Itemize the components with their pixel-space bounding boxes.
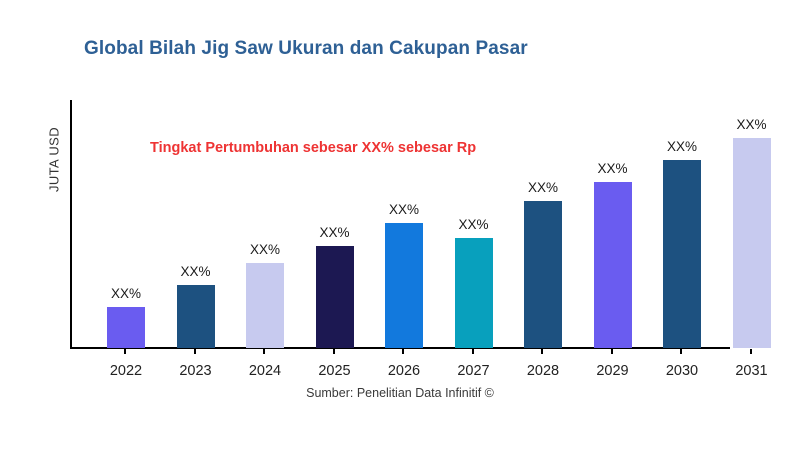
x-axis-tick (402, 349, 404, 354)
bar-value-label: XX% (299, 225, 371, 240)
x-axis-tick-label: 2031 (716, 363, 788, 379)
x-axis-tick-label: 2024 (229, 363, 301, 379)
x-axis-tick-label: 2026 (368, 363, 440, 379)
bar-rect[interactable] (524, 201, 562, 348)
bar-value-label: XX% (507, 180, 579, 195)
bar-value-label: XX% (368, 202, 440, 217)
bar-rect[interactable] (177, 285, 215, 348)
bar-value-label: XX% (160, 264, 232, 279)
bar-series: XX%2022XX%2023XX%2024XX%2025XX%2026XX%20… (0, 0, 800, 450)
bar-value-label: XX% (577, 161, 649, 176)
bar-value-label: XX% (646, 139, 718, 154)
x-axis-tick-label: 2022 (90, 363, 162, 379)
bar-value-label: XX% (716, 117, 788, 132)
x-axis-tick-label: 2023 (160, 363, 232, 379)
x-axis-tick (124, 349, 126, 354)
bar-rect[interactable] (107, 307, 145, 348)
bar-value-label: XX% (90, 286, 162, 301)
x-axis-tick (680, 349, 682, 354)
x-axis-tick (194, 349, 196, 354)
x-axis-tick-label: 2027 (438, 363, 510, 379)
bar-value-label: XX% (438, 217, 510, 232)
x-axis-tick (333, 349, 335, 354)
bar-rect[interactable] (663, 160, 701, 348)
bar-rect[interactable] (455, 238, 493, 348)
x-axis-tick (611, 349, 613, 354)
bar-value-label: XX% (229, 242, 301, 257)
bar-rect[interactable] (385, 223, 423, 348)
chart-container: Global Bilah Jig Saw Ukuran dan Cakupan … (0, 0, 800, 450)
x-axis-tick (472, 349, 474, 354)
x-axis-tick (750, 349, 752, 354)
bar-rect[interactable] (316, 246, 354, 348)
x-axis-tick-label: 2025 (299, 363, 371, 379)
x-axis-tick (541, 349, 543, 354)
source-note: Sumber: Penelitian Data Infinitif © (0, 386, 800, 400)
bar-rect[interactable] (733, 138, 771, 348)
x-axis-tick-label: 2030 (646, 363, 718, 379)
x-axis-tick-label: 2029 (577, 363, 649, 379)
bar-rect[interactable] (246, 263, 284, 348)
x-axis-tick (263, 349, 265, 354)
x-axis-tick-label: 2028 (507, 363, 579, 379)
bar-rect[interactable] (594, 182, 632, 348)
